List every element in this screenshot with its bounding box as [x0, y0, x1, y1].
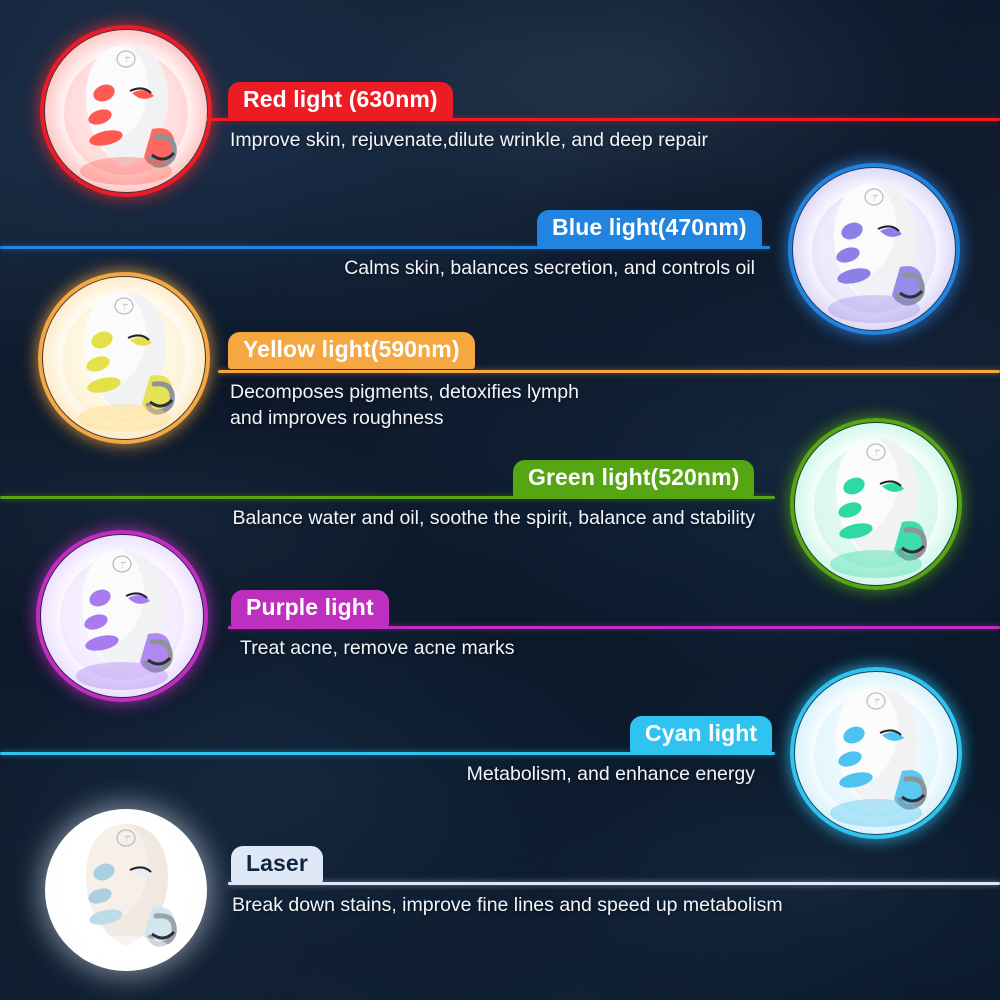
badge-purple[interactable]: Purple light — [231, 590, 389, 627]
badge-red[interactable]: Red light (630nm) — [228, 82, 453, 119]
description-laser: Break down stains, improve fine lines an… — [232, 893, 977, 919]
svg-text:⚚: ⚚ — [118, 560, 127, 570]
badge-green[interactable]: Green light(520nm) — [513, 460, 754, 497]
mask-thumbnail-laser: ⚚ — [40, 804, 212, 976]
mask-illustration-laser: ⚚ — [40, 804, 212, 976]
badge-label-cyan: Cyan light — [645, 720, 757, 747]
svg-text:⚚: ⚚ — [870, 193, 879, 203]
divider-rule-laser — [228, 882, 1000, 885]
badge-label-yellow: Yellow light(590nm) — [243, 336, 460, 363]
divider-rule-yellow — [218, 370, 1000, 373]
svg-text:⚚: ⚚ — [122, 55, 131, 65]
badge-label-green: Green light(520nm) — [528, 464, 739, 491]
svg-text:⚚: ⚚ — [872, 448, 881, 458]
led-mask-infographic: Red light (630nm) Improve skin, rejuvena… — [0, 0, 1000, 1000]
badge-yellow[interactable]: Yellow light(590nm) — [228, 332, 475, 369]
badge-blue[interactable]: Blue light(470nm) — [537, 210, 762, 247]
svg-text:⚚: ⚚ — [872, 697, 881, 707]
svg-text:⚚: ⚚ — [122, 834, 131, 844]
badge-cyan[interactable]: Cyan light — [630, 716, 772, 753]
badge-laser[interactable]: Laser — [231, 846, 323, 883]
therapy-row-laser: Laser Break down stains, improve fine li… — [0, 762, 1000, 962]
svg-text:⚚: ⚚ — [120, 302, 129, 312]
badge-label-purple: Purple light — [246, 594, 374, 621]
badge-label-red: Red light (630nm) — [243, 86, 438, 113]
badge-label-blue: Blue light(470nm) — [552, 214, 747, 241]
badge-label-laser: Laser — [246, 850, 308, 877]
